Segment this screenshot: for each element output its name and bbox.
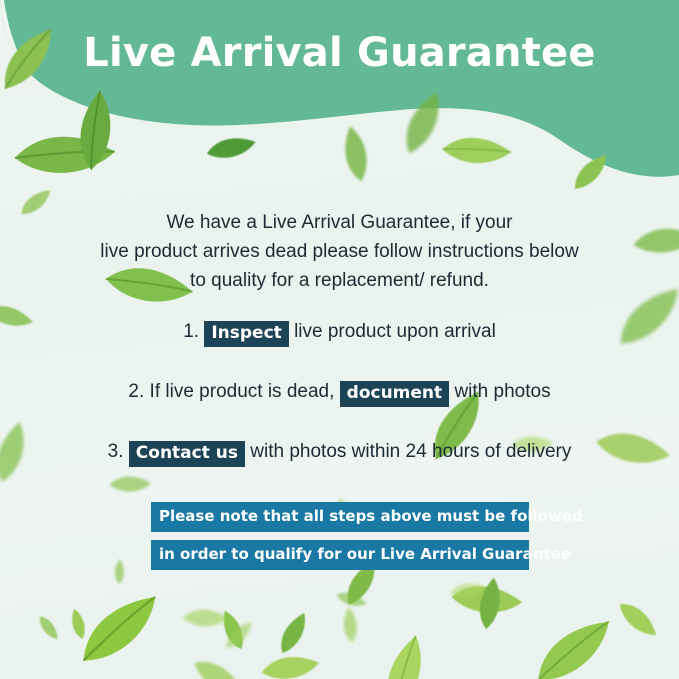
step-item-2: 2. If live product is dead, document wit…: [0, 380, 679, 406]
step-number-3: 3.: [108, 441, 124, 462]
step-item-3: 3. Contact us with photos within 24 hour…: [0, 440, 679, 466]
step-number-1: 1.: [183, 321, 199, 342]
intro-line-3: to quality for a replacement/ refund.: [0, 266, 679, 295]
step-highlight-inspect[interactable]: Inspect: [204, 321, 288, 347]
leaf-icon: [66, 585, 174, 678]
leaf-icon: [26, 610, 71, 646]
leaf-icon: [97, 552, 143, 591]
leaf-icon: [564, 149, 618, 197]
leaf-icon: [204, 127, 258, 170]
intro-line-1: We have a Live Arrival Guarantee, if you…: [0, 208, 679, 237]
steps-list: 1. Inspect live product upon arrival 2. …: [0, 320, 679, 500]
intro-paragraph: We have a Live Arrival Guarantee, if you…: [0, 208, 679, 295]
notice-group: Please note that all steps above must be…: [151, 502, 529, 570]
step-text-3-after: with photos within 24 hours of delivery: [250, 441, 571, 462]
step-item-1: 1. Inspect live product upon arrival: [0, 320, 679, 346]
step-highlight-document[interactable]: document: [340, 381, 450, 407]
notice-line-1: Please note that all steps above must be…: [151, 502, 529, 532]
step-text-1-after: live product upon arrival: [294, 321, 496, 342]
step-text-2-before: If live product is dead,: [150, 381, 335, 402]
step-text-2-after: with photos: [454, 381, 550, 402]
notice-line-2: in order to qualify for our Live Arrival…: [151, 540, 529, 570]
intro-line-2: live product arrives dead please follow …: [0, 237, 679, 266]
step-highlight-contact-us[interactable]: Contact us: [129, 441, 245, 467]
poster-canvas: Live Arrival Guarantee: [0, 0, 679, 679]
step-number-2: 2.: [128, 381, 144, 402]
page-title: Live Arrival Guarantee: [0, 30, 679, 76]
